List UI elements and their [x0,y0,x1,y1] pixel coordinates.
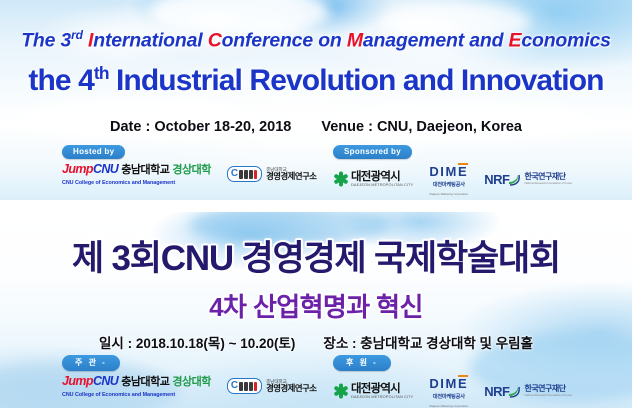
sponsored-by-badge: Sponsored by [333,145,412,159]
cnu-jump-mark: JumpCNU [62,163,118,176]
dime-en-name: Daejeon Marketing Corporation [429,405,468,408]
daejeon-star-icon [333,384,348,399]
nrf-en-name: National Research Foundation of Korea [524,394,571,397]
nrf-swoosh-icon [508,173,520,186]
cnu-kr-college: 경상대학 [172,165,210,176]
cnu-en-subtitle: CNU College of Economics and Management [62,393,175,398]
cnu-jump-mark: JumpCNU [62,375,118,388]
daejeon-city-logo: 대전광역시 DAEJEON METROPOLITAN CITY [333,383,413,399]
sponsored-by-row: Sponsored by 대전광역시 DAEJEON METROPOLITAN … [333,145,572,196]
english-title-line2-pre: the 4 [28,64,94,97]
daejeon-en-name: DAEJEON METROPOLITAN CITY [351,183,413,187]
nrf-logo: NRF 한국연구재단 National Research Foundation … [484,172,572,187]
korean-panel: 제 3회CNU 경영경제 국제학술대회 4차 산업혁명과 혁신 일시 : 201… [0,212,632,408]
korean-title: 제 3회CNU 경영경제 국제학술대회 [0,230,632,281]
sponsored-by-logos: 대전광역시 DAEJEON METROPOLITAN CITY DIME 대전마… [333,163,572,196]
cmeri-mark: C [227,166,262,182]
english-date: Date : October 18-20, 2018 [110,119,291,135]
dime-kr-name: 대전마케팅공사 [433,395,465,400]
dime-logo: DIME 대전마케팅공사 Daejeon Marketing Corporati… [429,163,468,196]
cmeri-logo: C 충남대학교 경영경제연구소 [227,166,317,182]
english-meta: Date : October 18-20, 2018Venue : CNU, D… [0,119,632,135]
sponsor-badge: 후 원 - [333,355,391,371]
korean-venue: 장소 : 충남대학교 경상대학 및 우림홀 [323,336,533,351]
cnu-college-logo: JumpCNU 충남대학교 경상대학 CNU College of Econom… [62,375,211,399]
english-title-line2-sup: th [94,63,109,83]
nrf-mark: NRF [484,384,520,399]
cmeri-c-glyph: C [231,381,238,391]
dime-logo: DIME 대전마케팅공사 Daejeon Marketing Corporati… [429,375,468,408]
organizer-logos: JumpCNU 충남대학교 경상대학 CNU College of Econom… [62,375,317,399]
nrf-swoosh-icon [508,385,520,398]
conference-poster: The 3rd International Conference on Mana… [0,0,632,408]
dime-en-name: Daejeon Marketing Corporation [429,193,468,196]
cmeri-logo: C 충남대학교 경영경제연구소 [227,378,317,394]
daejeon-en-name: DAEJEON METROPOLITAN CITY [351,395,413,399]
english-title-line2: the 4th Industrial Revolution and Innova… [0,63,632,98]
daejeon-city-logo: 대전광역시 DAEJEON METROPOLITAN CITY [333,171,413,187]
sponsor-logos: 대전광역시 DAEJEON METROPOLITAN CITY DIME 대전마… [333,375,572,408]
cmeri-block-glyphs [239,170,257,179]
nrf-letters: NRF [484,384,509,399]
cnu-kr-name: 충남대학교 [121,377,169,388]
sponsor-row: 후 원 - 대전광역시 DAEJEON METROPOLITAN CITY DI… [333,355,572,408]
cnu-en-subtitle: CNU College of Economics and Management [62,181,175,186]
english-panel: The 3rd International Conference on Mana… [0,0,632,200]
cnu-college-logo: JumpCNU 충남대학교 경상대학 CNU College of Econom… [62,163,211,187]
nrf-logo: NRF 한국연구재단 National Research Foundation … [484,384,572,399]
nrf-letters: NRF [484,172,509,187]
hosted-by-logos: JumpCNU 충남대학교 경상대학 CNU College of Econom… [62,163,317,187]
korean-meta: 일시 : 2018.10.18(목) ~ 10.20(토)장소 : 충남대학교 … [0,332,632,352]
korean-subtitle: 4차 산업혁명과 혁신 [0,287,632,324]
cmeri-kr-name: 경영경제연구소 [266,384,316,393]
sponsored-by-group: Sponsored by 대전광역시 DAEJEON METROPOLITAN … [333,145,572,196]
organizer-row: 주 관 - JumpCNU 충남대학교 경상대학 CNU College of … [62,355,317,398]
nrf-mark: NRF [484,172,520,187]
english-title-line2-post: Industrial Revolution and Innovation [109,64,604,97]
nrf-en-name: National Research Foundation of Korea [524,182,571,185]
dime-mark: DIME [429,375,468,390]
hosted-by-badge: Hosted by [62,145,125,159]
daejeon-star-icon [333,172,348,187]
organizer-badge: 주 관 - [62,355,120,371]
cmeri-block-glyphs [239,382,257,391]
hosted-by-group: Hosted by JumpCNU 충남대학교 경상대학 CNU College… [62,145,317,186]
cmeri-kr-name: 경영경제연구소 [266,172,316,181]
hosted-by-row: Hosted by JumpCNU 충남대학교 경상대학 CNU College… [62,145,317,186]
english-title-line1: The 3rd International Conference on Mana… [0,28,632,53]
cnu-kr-college: 경상대학 [172,377,210,388]
korean-date: 일시 : 2018.10.18(목) ~ 10.20(토) [99,336,295,351]
english-venue: Venue : CNU, Daejeon, Korea [321,119,522,135]
dime-kr-name: 대전마케팅공사 [433,183,465,188]
dime-mark: DIME [429,163,468,178]
organizer-group: 주 관 - JumpCNU 충남대학교 경상대학 CNU College of … [62,355,317,398]
cmeri-mark: C [227,378,262,394]
sponsor-group: 후 원 - 대전광역시 DAEJEON METROPOLITAN CITY DI… [333,355,572,408]
cnu-kr-name: 충남대학교 [121,165,169,176]
cmeri-c-glyph: C [231,169,238,179]
